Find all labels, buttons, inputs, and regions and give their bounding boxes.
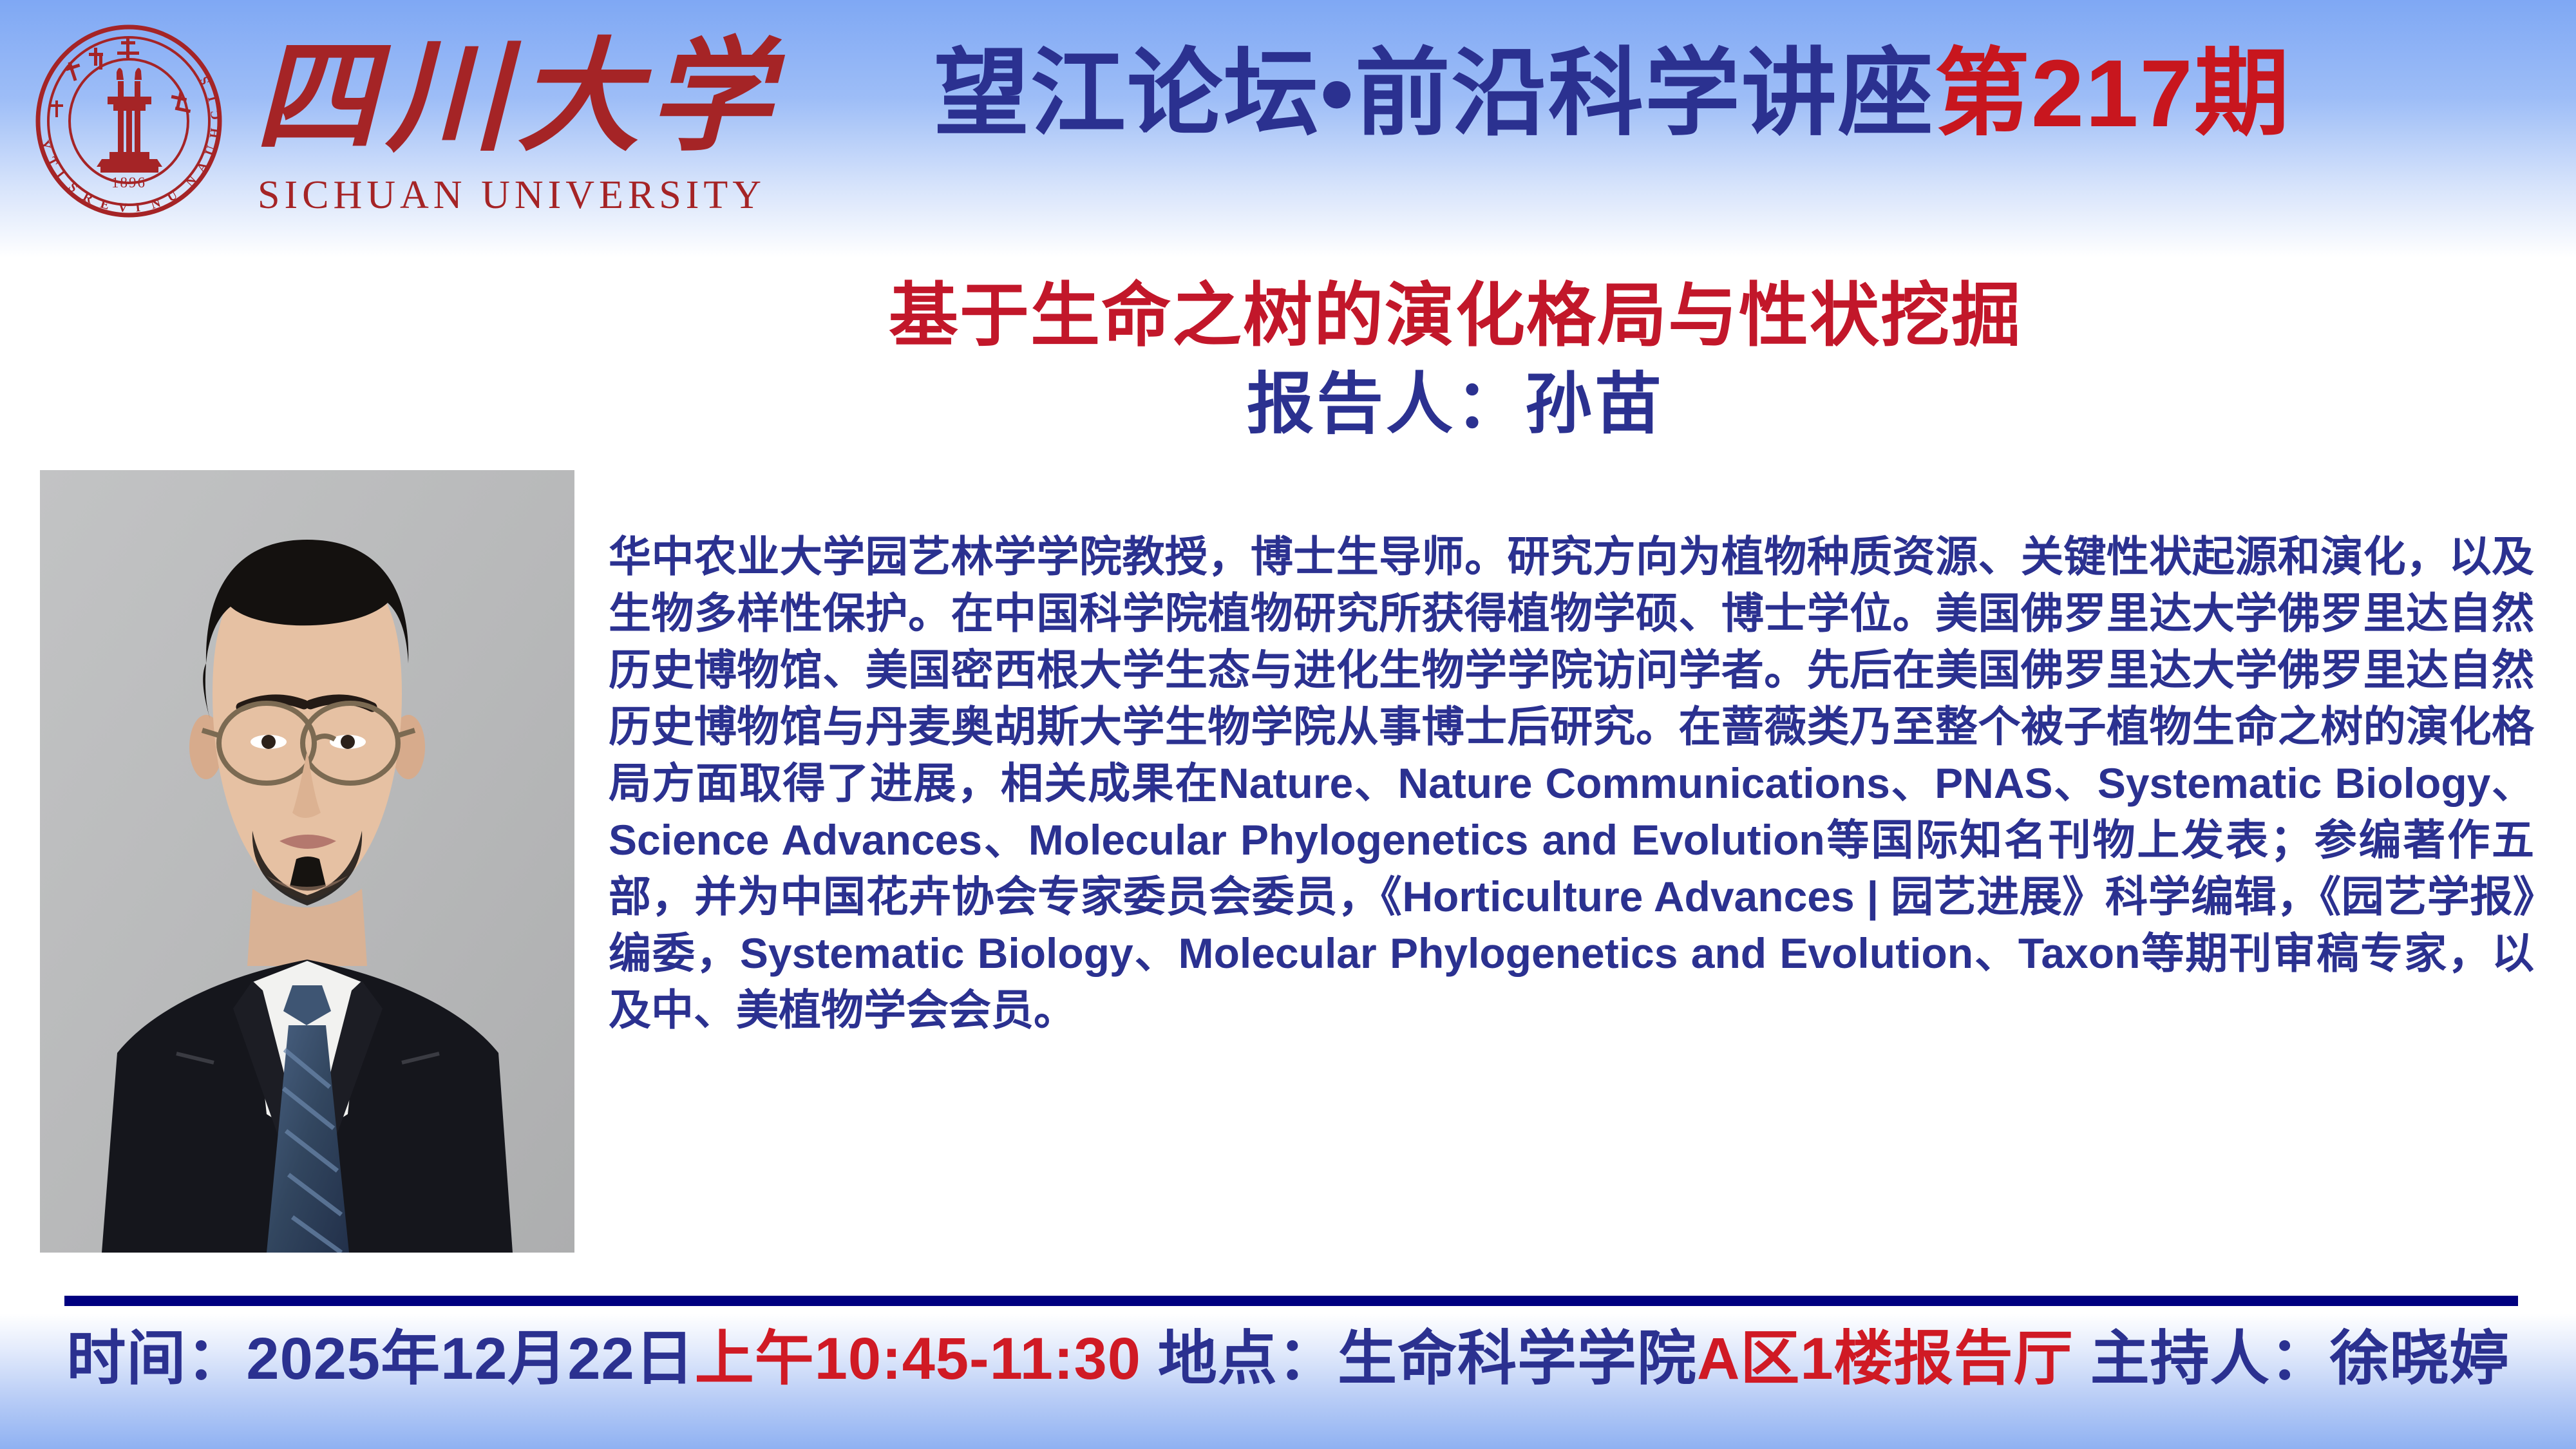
university-name-cn: 四川大学 bbox=[254, 31, 780, 166]
event-time-range: 上午10:45-11:30 bbox=[695, 1326, 1141, 1392]
host-label: 主持人： bbox=[2090, 1326, 2330, 1392]
speaker-line: 报告人：孙苗 bbox=[605, 367, 2306, 442]
series-title: 望江论坛•前沿科学讲座第217期 bbox=[934, 40, 2557, 148]
event-date: 2025年12月22日 bbox=[246, 1326, 694, 1392]
series-name: 望江论坛•前沿科学讲座 bbox=[934, 41, 1935, 147]
speaker-portrait bbox=[40, 470, 574, 1253]
footer-details: 时间：2025年12月22日上午10:45-11:30地点：生命科学学院A区1楼… bbox=[0, 1325, 2576, 1392]
svg-text:I: I bbox=[135, 200, 141, 215]
speaker-bio: 华中农业大学园艺林学学院教授，博士生导师。研究方向为植物种质资源、关键性状起源和… bbox=[609, 528, 2534, 1038]
sichuan-university-seal-icon: 1896 S I C H U A N U N I V E R S I T Y bbox=[32, 24, 225, 218]
svg-text:C: C bbox=[208, 110, 223, 120]
svg-text:1896: 1896 bbox=[111, 175, 146, 191]
place-label: 地点： bbox=[1158, 1326, 1338, 1392]
time-label: 时间： bbox=[66, 1326, 246, 1392]
footer-divider bbox=[64, 1296, 2518, 1306]
svg-text:V: V bbox=[118, 200, 128, 215]
lecture-title: 基于生命之树的演化格局与性状挖掘 bbox=[605, 277, 2306, 354]
host-name: 徐晓婷 bbox=[2330, 1326, 2510, 1392]
place-main: 生命科学学院 bbox=[1338, 1326, 1697, 1392]
university-name-en: SICHUAN UNIVERSITY bbox=[258, 173, 766, 218]
svg-text:N: N bbox=[183, 173, 200, 190]
place-highlight: A区1楼报告厅 bbox=[1697, 1326, 2074, 1392]
university-logo: 1896 S I C H U A N U N I V E R S I T Y bbox=[26, 19, 773, 232]
series-issue-number: 第217期 bbox=[1935, 41, 2291, 147]
